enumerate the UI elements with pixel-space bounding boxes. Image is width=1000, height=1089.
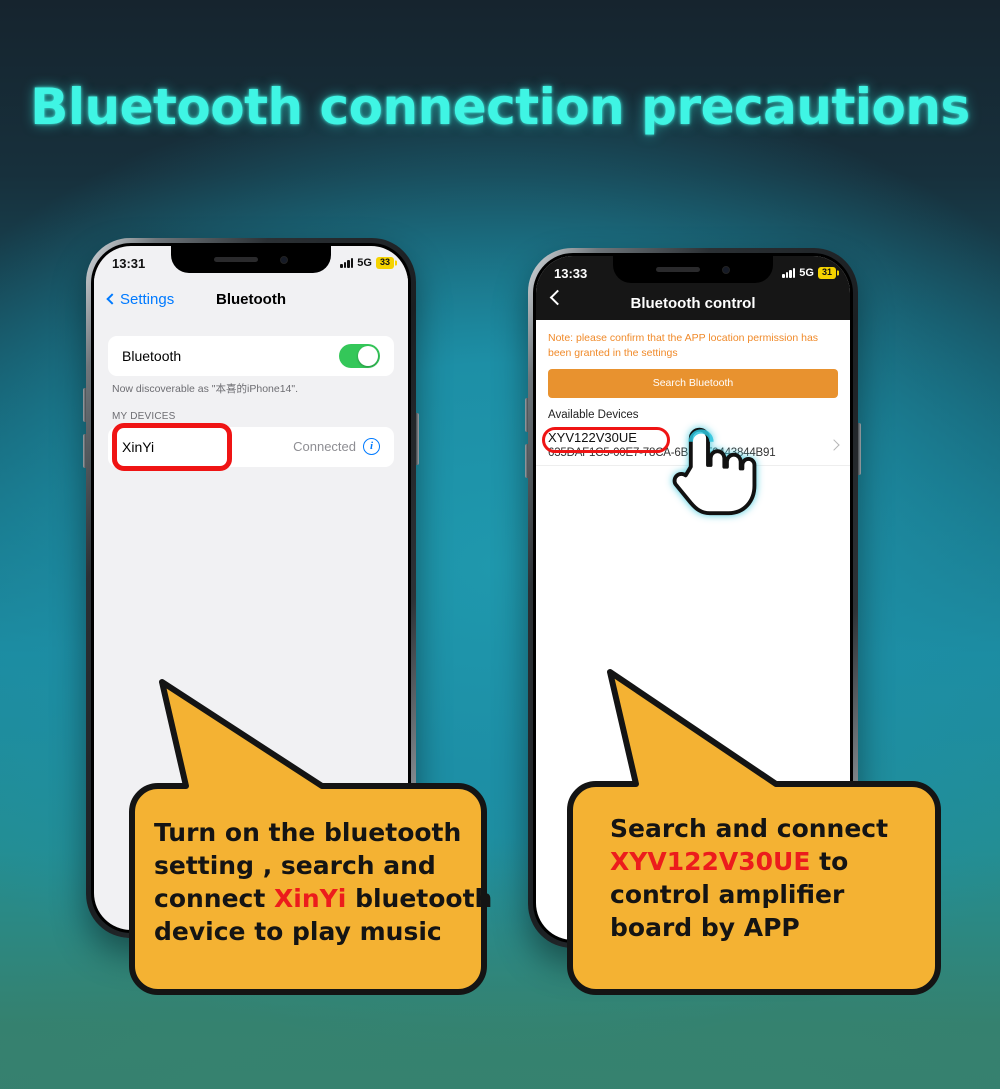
battery-badge: 33 xyxy=(376,257,394,269)
chevron-left-icon xyxy=(106,293,117,304)
callout-left-line3-post: bluetooth xyxy=(346,884,492,913)
earpiece-speaker-icon xyxy=(214,257,258,262)
status-time: 13:33 xyxy=(554,266,587,281)
phone-left-power-button xyxy=(416,413,419,465)
bluetooth-toggle-row[interactable]: Bluetooth xyxy=(122,336,380,376)
paired-device-status: Connected xyxy=(293,439,356,454)
network-type-label: 5G xyxy=(799,267,814,279)
phone-right-power-button xyxy=(858,423,861,475)
callout-right-text: Search and connect XYV122V30UE to contro… xyxy=(564,658,948,944)
back-label: Settings xyxy=(120,291,174,308)
toggle-knob xyxy=(358,346,378,366)
discoverable-note: Now discoverable as "本喜的iPhone14". xyxy=(94,376,408,397)
front-camera-icon xyxy=(280,256,288,264)
back-chevron-icon[interactable] xyxy=(550,290,566,306)
callout-right-line1: Search and connect xyxy=(610,812,948,845)
info-icon[interactable]: i xyxy=(363,438,380,455)
callout-right: Search and connect XYV122V30UE to contro… xyxy=(564,658,948,1002)
signal-bars-icon xyxy=(340,258,353,268)
phone-right-volume-down-button xyxy=(525,444,528,478)
search-bluetooth-button[interactable]: Search Bluetooth xyxy=(548,369,838,398)
phone-left-volume-down-button xyxy=(83,434,86,468)
status-time: 13:31 xyxy=(112,256,145,271)
paired-device-name: XinYi xyxy=(122,439,154,455)
status-bar: 13:33 5G 31 xyxy=(536,256,850,286)
callout-left-text: Turn on the bluetooth setting , search a… xyxy=(126,668,518,948)
ios-nav-bar: Settings Bluetooth xyxy=(94,276,408,322)
callout-left-line3: connect XinYi bluetooth xyxy=(154,882,518,915)
callout-left-line2: setting , search and xyxy=(154,849,518,882)
callout-left-highlight: XinYi xyxy=(274,884,346,913)
callout-right-line4: board by APP xyxy=(610,911,948,944)
callout-right-line2-post: to xyxy=(810,847,848,876)
bluetooth-label: Bluetooth xyxy=(122,348,181,364)
callout-left-line3-pre: connect xyxy=(154,884,274,913)
my-devices-header: MY DEVICES xyxy=(94,397,408,427)
battery-badge: 31 xyxy=(818,267,836,279)
phone-right-volume-up-button xyxy=(525,398,528,432)
hand-pointer-icon xyxy=(671,422,757,530)
signal-bars-icon xyxy=(782,268,795,278)
callout-left-line4: device to play music xyxy=(154,915,518,948)
app-title: Bluetooth control xyxy=(631,295,756,312)
callout-right-line2: XYV122V30UE to xyxy=(610,845,948,878)
bluetooth-toggle-switch[interactable] xyxy=(339,344,380,368)
page-title: Bluetooth connection precautions xyxy=(0,78,1000,136)
callout-left: Turn on the bluetooth setting , search a… xyxy=(126,668,518,1002)
network-type-label: 5G xyxy=(357,257,372,269)
callout-right-highlight: XYV122V30UE xyxy=(610,847,810,876)
phone-notch xyxy=(171,246,331,273)
phone-left-volume-buttons xyxy=(83,388,86,422)
callout-left-line1: Turn on the bluetooth xyxy=(154,816,518,849)
location-permission-note: Note: please confirm that the APP locati… xyxy=(536,320,850,367)
chevron-right-icon xyxy=(828,440,839,451)
back-to-settings-button[interactable]: Settings xyxy=(108,291,174,308)
callout-right-line3: control amplifier xyxy=(610,878,948,911)
paired-device-row-xinyi[interactable]: XinYi Connected i xyxy=(108,427,394,467)
bluetooth-toggle-card: Bluetooth xyxy=(108,336,394,376)
